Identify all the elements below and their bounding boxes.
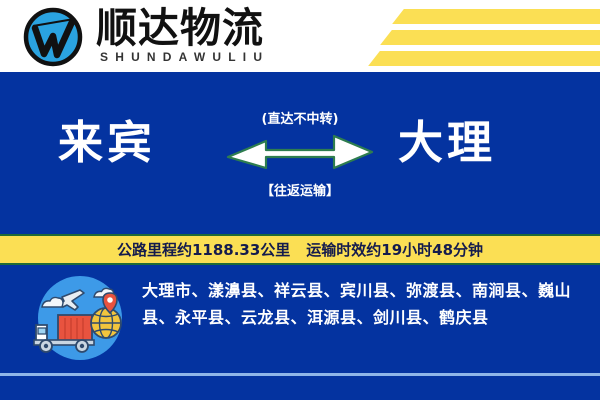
route-note-direct: (直达不中转) <box>226 108 374 127</box>
logistics-route-banner: 顺达物流 SHUNDAWULIU 来宾 (直达不中转) 【往返运输】 大理 <box>0 0 600 400</box>
decorative-stripe <box>368 51 600 66</box>
swoosh-circle-logo-icon <box>22 6 84 68</box>
coverage-row: 大理市、漾濞县、祥云县、宾川县、弥渡县、南涧县、巍山县、永平县、云龙县、洱源县、… <box>0 265 600 373</box>
route-row: 来宾 (直达不中转) 【往返运输】 大理 <box>0 72 600 234</box>
company-name-cn: 顺达物流 <box>96 6 264 50</box>
route-arrow-group: (直达不中转) 【往返运输】 <box>226 108 374 218</box>
duration-label: 运输时效约19小时48分钟 <box>306 239 483 260</box>
distance-label: 公路里程约1188.33公里 <box>117 239 290 260</box>
company-name-en: SHUNDAWULIU <box>100 50 269 64</box>
truck-plane-globe-illustration-icon <box>22 273 138 363</box>
footer-bar <box>0 376 600 400</box>
banner-header: 顺达物流 SHUNDAWULIU <box>0 0 600 72</box>
decorative-stripe <box>380 30 600 45</box>
origin-city: 来宾 <box>58 116 156 170</box>
coverage-areas-text: 大理市、漾濞县、祥云县、宾川县、弥渡县、南涧县、巍山县、永平县、云龙县、洱源县、… <box>142 277 588 331</box>
main-blue-panel: 来宾 (直达不中转) 【往返运输】 大理 公路里程约1188.33公里 运输时效… <box>0 72 600 373</box>
bidirectional-arrow-icon <box>226 130 374 181</box>
route-info-bar: 公路里程约1188.33公里 运输时效约19小时48分钟 <box>0 234 600 265</box>
decorative-stripe <box>392 9 600 24</box>
destination-city: 大理 <box>398 116 496 170</box>
route-note-roundtrip: 【往返运输】 <box>226 180 374 199</box>
